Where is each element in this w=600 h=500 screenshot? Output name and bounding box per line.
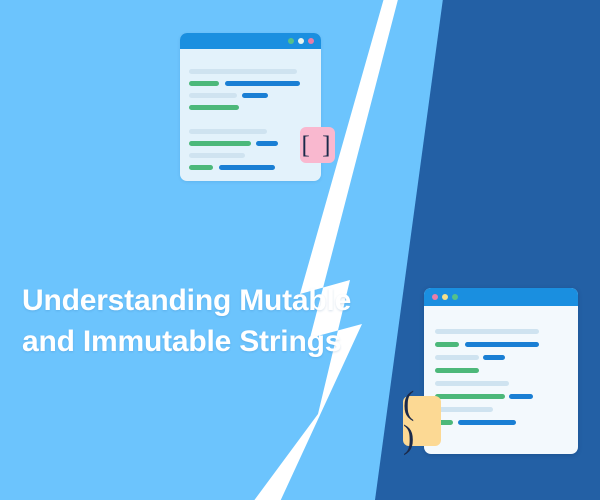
- code-segment-blue: [225, 81, 300, 86]
- code-line: [435, 329, 567, 334]
- illustration-canvas: [ ]: [0, 0, 600, 500]
- code-segment-muted: [435, 407, 493, 412]
- window-titlebar: [180, 33, 321, 49]
- code-segment-blue: [458, 420, 516, 425]
- code-area: [424, 306, 578, 443]
- parenthesis-text: ( ): [403, 387, 441, 455]
- window-titlebar: [424, 288, 578, 306]
- code-segment-muted: [435, 329, 539, 334]
- code-segment-blue: [465, 342, 539, 347]
- code-segment-blue: [483, 355, 505, 360]
- window-dot-green[interactable]: [452, 294, 458, 300]
- code-segment-green: [435, 394, 505, 399]
- window-dot-yellow[interactable]: [442, 294, 448, 300]
- code-segment-green: [189, 141, 251, 146]
- window-controls: [432, 294, 458, 300]
- code-line: [189, 93, 312, 98]
- code-gap: [189, 117, 312, 122]
- code-segment-muted: [189, 69, 297, 74]
- code-segment-green: [435, 342, 459, 347]
- window-controls: [288, 38, 314, 44]
- code-line: [435, 368, 567, 373]
- code-segment-green: [435, 368, 479, 373]
- code-segment-green: [189, 105, 239, 110]
- code-segment-green: [189, 165, 213, 170]
- page-title-line-2: and Immutable Strings: [22, 321, 352, 362]
- code-segment-blue: [219, 165, 275, 170]
- parenthesis-badge: ( ): [403, 396, 441, 446]
- code-segment-blue: [242, 93, 268, 98]
- code-line: [435, 394, 567, 399]
- code-line: [189, 165, 312, 170]
- code-line: [435, 355, 567, 360]
- code-gap: [435, 316, 567, 321]
- page-title: Understanding Mutable and Immutable Stri…: [22, 280, 352, 363]
- window-dot-green[interactable]: [288, 38, 294, 44]
- code-segment-blue: [509, 394, 533, 399]
- code-gap: [189, 57, 312, 62]
- page-title-line-1: Understanding Mutable: [22, 280, 352, 321]
- square-bracket-text: [ ]: [302, 133, 334, 158]
- code-line: [189, 105, 312, 110]
- code-line: [435, 407, 567, 412]
- code-line: [435, 420, 567, 425]
- code-window-immutable[interactable]: [424, 288, 578, 454]
- code-line: [189, 141, 312, 146]
- code-segment-muted: [189, 153, 245, 158]
- code-line: [189, 69, 312, 74]
- code-line: [435, 342, 567, 347]
- window-dot-pink[interactable]: [432, 294, 438, 300]
- square-bracket-badge: [ ]: [300, 127, 335, 163]
- code-area: [180, 49, 321, 181]
- code-segment-green: [189, 81, 219, 86]
- code-segment-muted: [189, 129, 267, 134]
- code-line: [189, 153, 312, 158]
- code-line: [189, 129, 312, 134]
- window-dot-pink[interactable]: [308, 38, 314, 44]
- code-segment-muted: [435, 355, 479, 360]
- code-line: [435, 381, 567, 386]
- code-segment-muted: [189, 93, 237, 98]
- code-segment-muted: [435, 381, 509, 386]
- code-segment-blue: [256, 141, 278, 146]
- code-line: [189, 81, 312, 86]
- window-dot-light[interactable]: [298, 38, 304, 44]
